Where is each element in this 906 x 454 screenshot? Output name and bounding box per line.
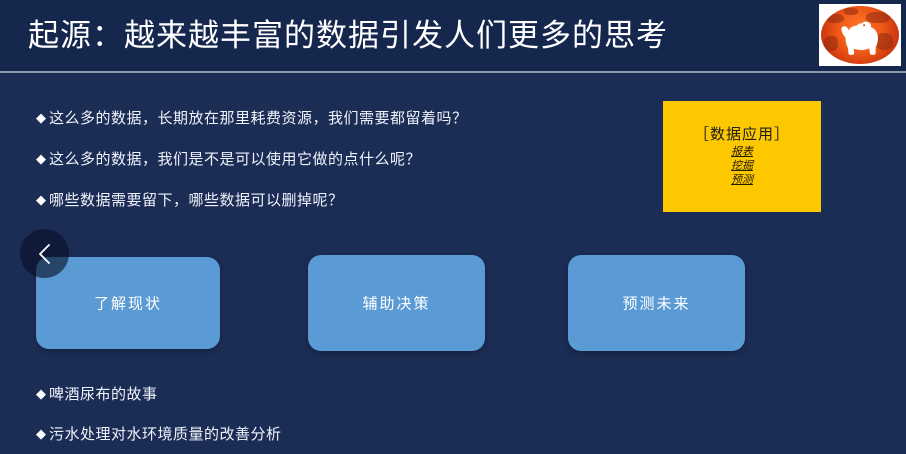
- slide-header: 起源：越来越丰富的数据引发人们更多的思考: [0, 0, 906, 72]
- bullet-diamond-icon: ◆: [36, 425, 49, 445]
- bullet-item-1: ◆这么多的数据，长期放在那里耗费资源，我们需要都留着吗？: [36, 108, 468, 129]
- card-assist-decision[interactable]: 辅助决策: [308, 255, 485, 351]
- slide-canvas: 起源：越来越丰富的数据引发人们更多的思考 ◆这: [0, 0, 906, 454]
- header-divider: [0, 71, 906, 73]
- bullet-text: 这么多的数据，我们是不是可以使用它做的点什么呢？: [49, 150, 421, 168]
- bullet-text: 污水处理对水环境质量的改善分析: [49, 425, 282, 443]
- bullet-item-5: ◆污水处理对水环境质量的改善分析: [36, 424, 282, 445]
- bullet-text: 啤酒尿布的故事: [49, 385, 158, 403]
- previous-slide-button[interactable]: [20, 229, 69, 278]
- bullet-item-2: ◆这么多的数据，我们是不是可以使用它做的点什么呢？: [36, 149, 421, 170]
- callout-title: ［数据应用］: [663, 123, 821, 144]
- bullet-item-4: ◆啤酒尿布的故事: [36, 384, 158, 405]
- callout-item-prediction: 预测: [663, 173, 821, 187]
- callout-subitems: 报表 挖掘 预测: [663, 145, 821, 187]
- bullet-diamond-icon: ◆: [36, 191, 49, 211]
- card-label: 了解现状: [36, 293, 220, 314]
- elephant-logo-icon: [821, 6, 899, 64]
- callout-item-mining: 挖掘: [663, 159, 821, 173]
- bullet-diamond-icon: ◆: [36, 385, 49, 405]
- chevron-left-icon: [37, 242, 53, 266]
- logo-container: [819, 4, 901, 66]
- bullet-diamond-icon: ◆: [36, 109, 49, 129]
- bullet-text: 这么多的数据，长期放在那里耗费资源，我们需要都留着吗？: [49, 109, 468, 127]
- page-title: 起源：越来越丰富的数据引发人们更多的思考: [28, 10, 668, 62]
- bullet-diamond-icon: ◆: [36, 150, 49, 170]
- bullet-item-3: ◆哪些数据需要留下，哪些数据可以删掉呢？: [36, 190, 344, 211]
- card-label: 预测未来: [568, 293, 745, 314]
- card-label: 辅助决策: [308, 293, 485, 314]
- elephant-glyph-icon: [821, 6, 899, 64]
- bullet-text: 哪些数据需要留下，哪些数据可以删掉呢？: [49, 191, 344, 209]
- card-predict-future[interactable]: 预测未来: [568, 255, 745, 351]
- data-application-callout: ［数据应用］ 报表 挖掘 预测: [663, 101, 821, 212]
- callout-item-reports: 报表: [663, 145, 821, 159]
- card-understand-status[interactable]: 了解现状: [36, 257, 220, 349]
